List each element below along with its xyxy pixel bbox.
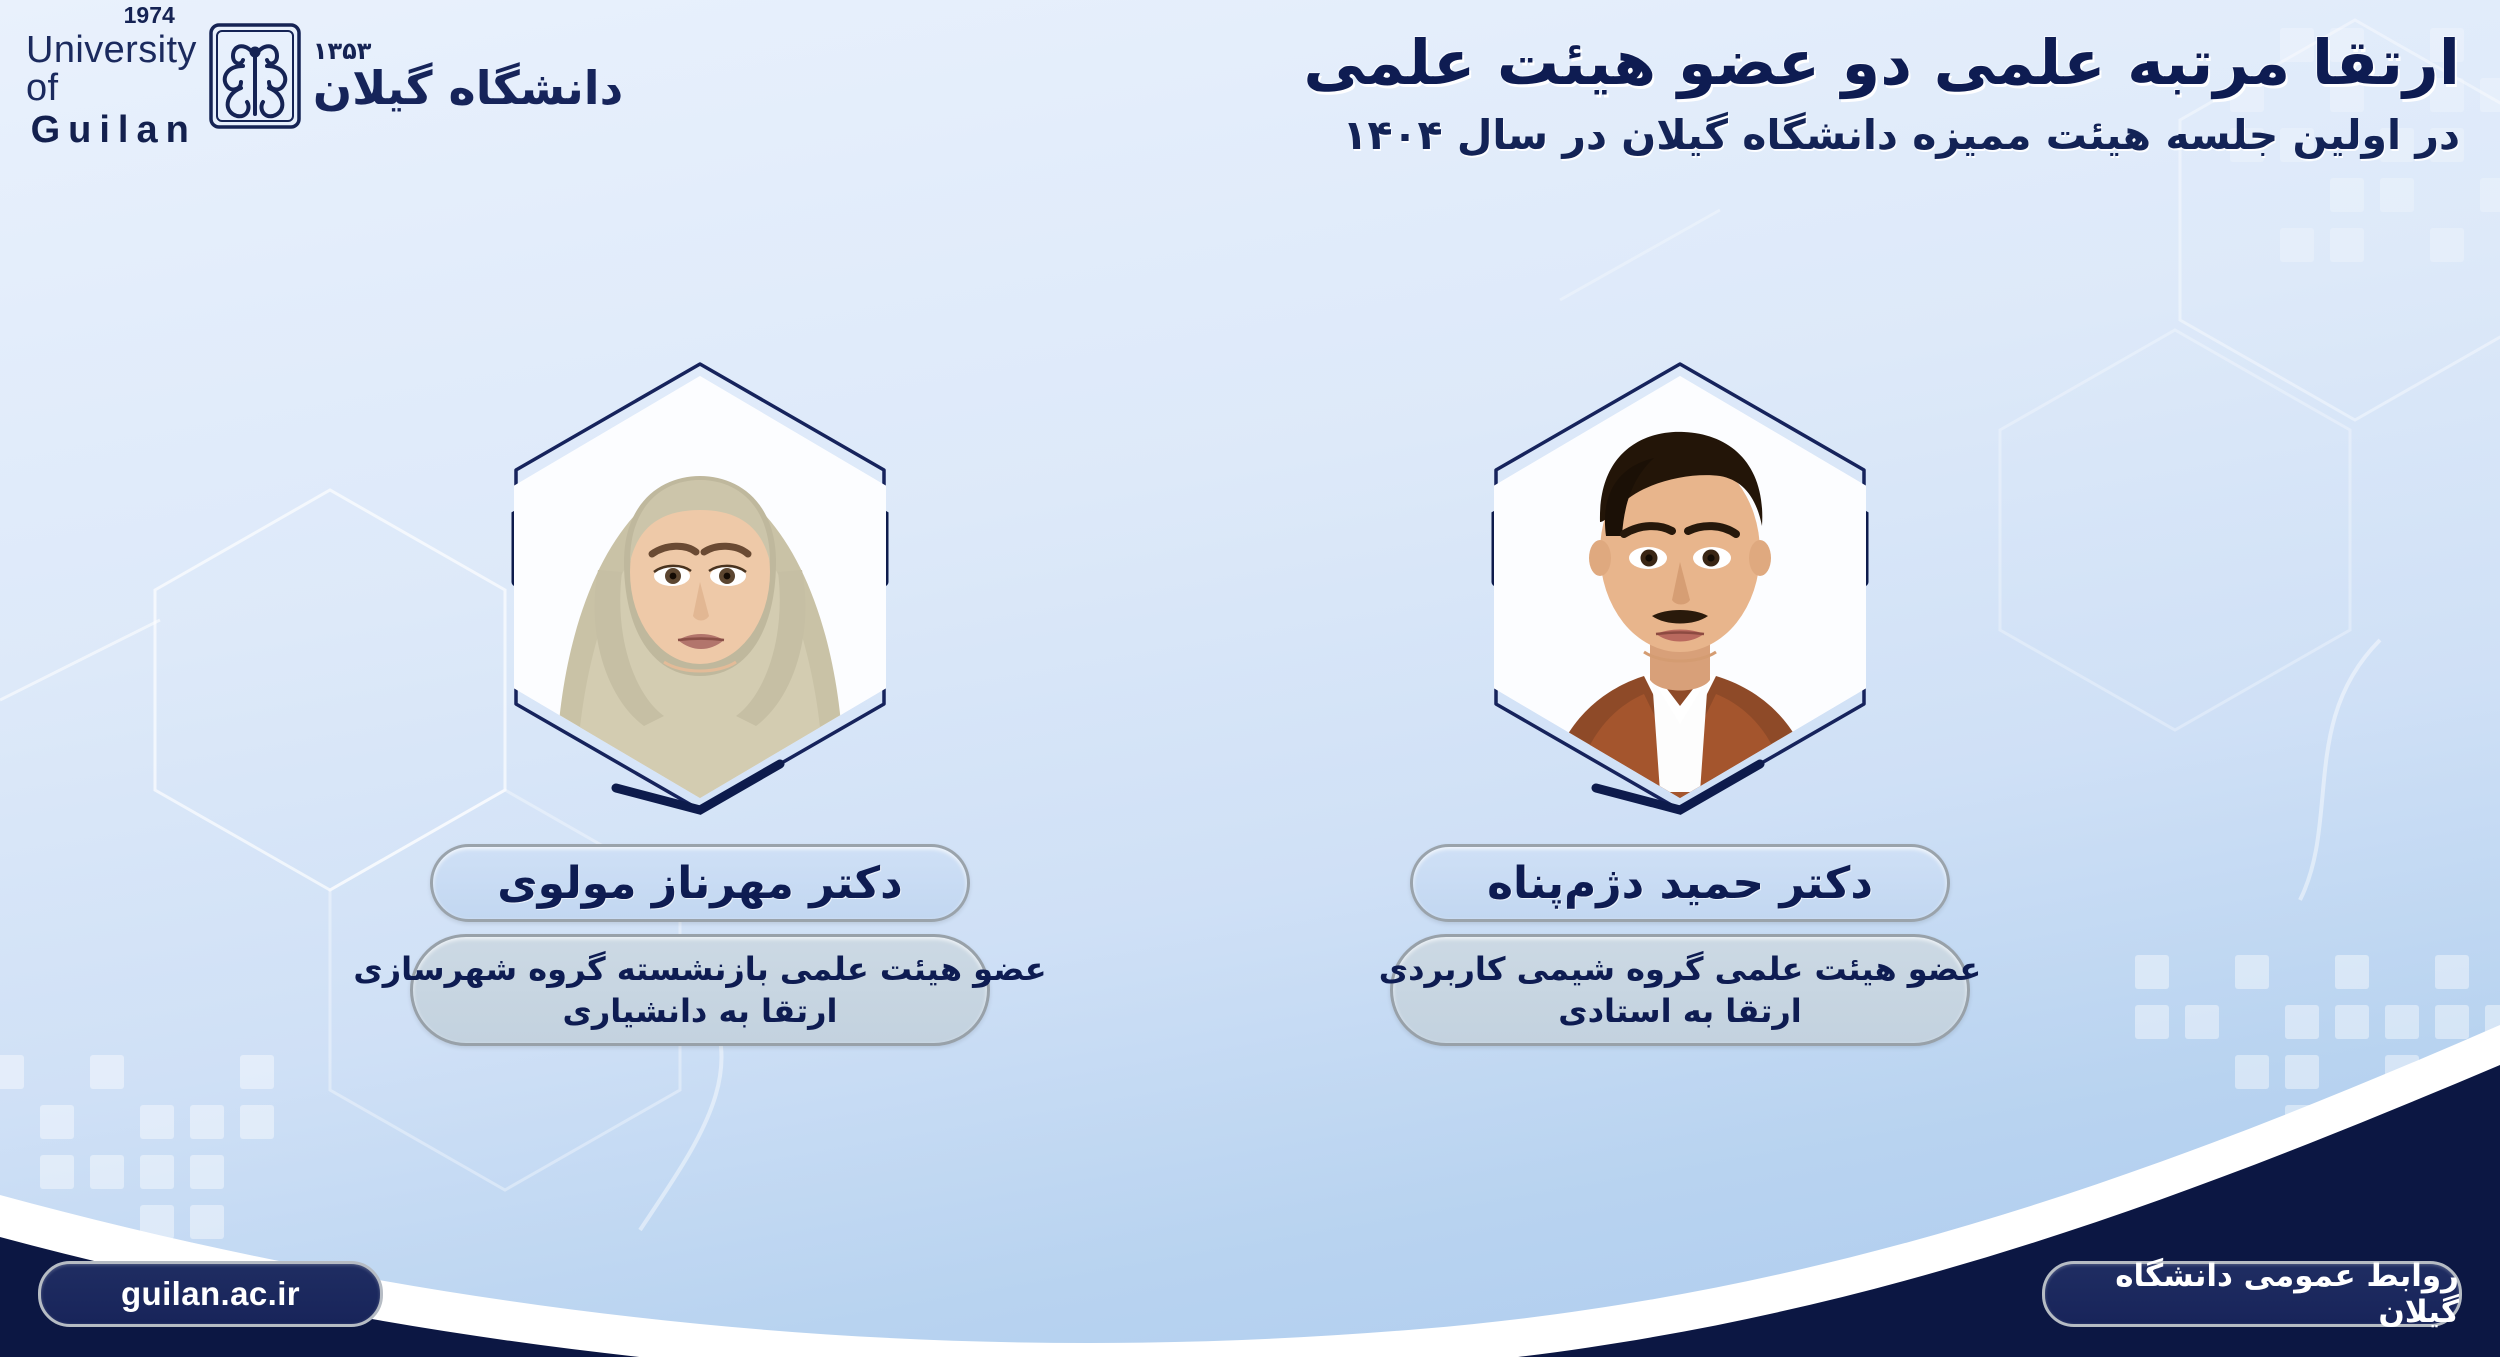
header-text-block: ارتقا مرتبه علمی دو عضو هیئت علمی در اول… xyxy=(1040,26,2460,162)
university-logo: 1974 University of Guilan xyxy=(26,14,496,138)
logo-english-text: 1974 University of Guilan xyxy=(26,4,197,149)
logo-guilan-word: Guilan xyxy=(31,111,197,149)
logo-university-word: University of xyxy=(26,31,197,107)
logo-persian-text: ۱۳۵۳ دانشگاه گیلان xyxy=(313,37,623,115)
website-pill[interactable]: guilan.ac.ir xyxy=(38,1261,383,1327)
logo-university-name-fa: دانشگاه گیلان xyxy=(313,61,623,115)
website-url: guilan.ac.ir xyxy=(121,1275,300,1313)
hexagon-photo-frame xyxy=(1460,352,1900,822)
butterfly-emblem-icon xyxy=(207,22,303,130)
logo-founding-year-en: 1974 xyxy=(124,4,175,27)
page-subtitle: در اولین جلسه هیئت ممیزه دانشگاه گیلان د… xyxy=(1040,109,2460,162)
public-relations-label: روابط عمومی دانشگاه گیلان xyxy=(2045,1258,2459,1330)
public-relations-pill: روابط عمومی دانشگاه گیلان xyxy=(2042,1261,2462,1327)
person-name-badge: دکتر مهرناز مولوی xyxy=(430,844,970,922)
poster-canvas: 1974 University of Guilan xyxy=(0,0,2500,1357)
person-name: دکتر حمید دژم‌پناه xyxy=(1487,858,1873,909)
person-name: دکتر مهرناز مولوی xyxy=(497,858,902,909)
hexagon-photo-frame xyxy=(480,352,920,822)
person-name-badge: دکتر حمید دژم‌پناه xyxy=(1410,844,1950,922)
page-title: ارتقا مرتبه علمی دو عضو هیئت علمی xyxy=(1040,26,2460,99)
